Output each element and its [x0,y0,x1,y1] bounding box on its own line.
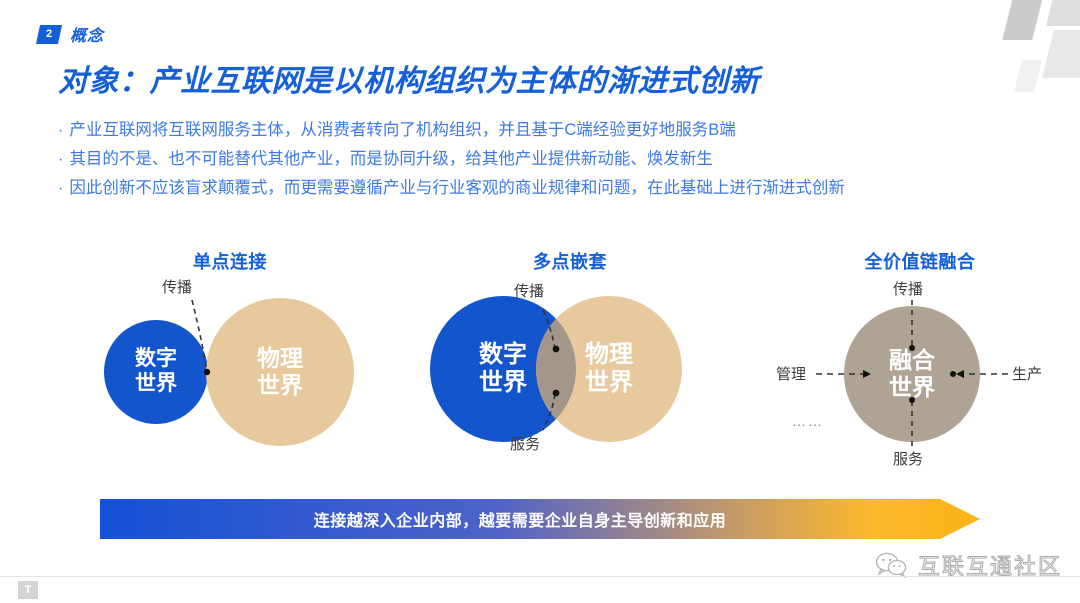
page-title: 对象：产业互联网是以机构组织为主体的渐进式创新 [58,56,760,100]
decor-parallelogram [1042,30,1080,78]
section-number-badge: 2 [36,25,62,44]
bullet-item: · 产业互联网将互联网服务主体，从消费者转向了机构组织，并且基于C端经验更好地服… [58,116,1018,145]
connection-node-top [553,346,560,353]
axis-label-production: 生产 [1012,363,1042,384]
bullet-text: 产业互联网将互联网服务主体，从消费者转向了机构组织，并且基于C端经验更好地服务B… [69,116,735,144]
banner-text: 连接越深入企业内部，越要需要企业自身主导创新和应用 [100,499,940,539]
bullet-list: · 产业互联网将互联网服务主体，从消费者转向了机构组织，并且基于C端经验更好地服… [58,116,1018,203]
axis-node-right [950,371,956,377]
axis-label-more: …… [792,413,824,429]
corner-decoration [950,0,1080,95]
summary-banner: 连接越深入企业内部，越要需要企业自身主导创新和应用 [100,499,980,539]
connector-label-service: 服务 [510,433,540,454]
overlap-lens [536,296,682,442]
diagram-title: 全价值链融合 [760,248,1080,274]
diagram-full-chain: 全价值链融合 融合 世界 [760,248,1080,483]
diagram-stage: 融合 世界 传播 [760,278,1080,483]
diagram-stage: 数字 世界 物理 世界 传播 [70,278,390,483]
connector-label-spread: 传播 [514,280,544,301]
axis-label-management: 管理 [776,363,806,384]
connector-dashed-line [192,300,207,371]
section-eyebrow: 2 概念 [38,22,104,46]
axis-label-spread: 传播 [893,278,923,299]
connector-lines [70,278,390,483]
bullet-marker: · [58,117,63,145]
axis-node-bottom [909,397,915,403]
bullet-marker: · [58,146,63,174]
diagram-multi-point: 多点嵌套 数字 世界 物理 世界 [410,248,730,483]
footer-divider [0,576,1080,577]
connection-node [204,369,210,375]
bullet-item: · 因此创新不应该盲求颠覆式，而更需要遵循产业与行业客观的商业规律和问题，在此基… [58,174,1018,203]
slide-root: 2 概念 对象：产业互联网是以机构组织为主体的渐进式创新 · 产业互联网将互联网… [0,0,1080,603]
bullet-text: 因此创新不应该盲求颠覆式，而更需要遵循产业与行业客观的商业规律和问题，在此基础上… [69,174,845,202]
decor-parallelogram [1014,60,1042,92]
diagram-title: 多点嵌套 [410,248,730,274]
axis-arrow-right [956,370,964,378]
axis-label-service: 服务 [893,448,923,469]
section-number: 2 [46,29,52,40]
diagram-title: 单点连接 [70,248,390,274]
axis-arrow-left [863,370,871,378]
diagram-stage: 数字 世界 物理 世界 [410,278,730,483]
footer-logo-mark: T [18,581,38,599]
axis-node-top [909,345,915,351]
bullet-marker: · [58,175,63,203]
overlap-region [410,278,730,483]
connector-label-spread: 传播 [162,276,192,297]
diagram-single-point: 单点连接 数字 世界 物理 世界 传播 [70,248,390,483]
diagram-row: 单点连接 数字 世界 物理 世界 传播 [0,248,1080,483]
bullet-text: 其目的不是、也不可能替代其他产业，而是协同升级，给其他产业提供新动能、焕发新生 [69,145,713,173]
decor-parallelogram [1002,0,1043,40]
decor-parallelogram [1046,0,1080,26]
bullet-item: · 其目的不是、也不可能替代其他产业，而是协同升级，给其他产业提供新动能、焕发新… [58,145,1018,174]
wechat-icon [875,552,909,578]
section-label: 概念 [70,22,104,46]
connection-node-bottom [553,390,560,397]
